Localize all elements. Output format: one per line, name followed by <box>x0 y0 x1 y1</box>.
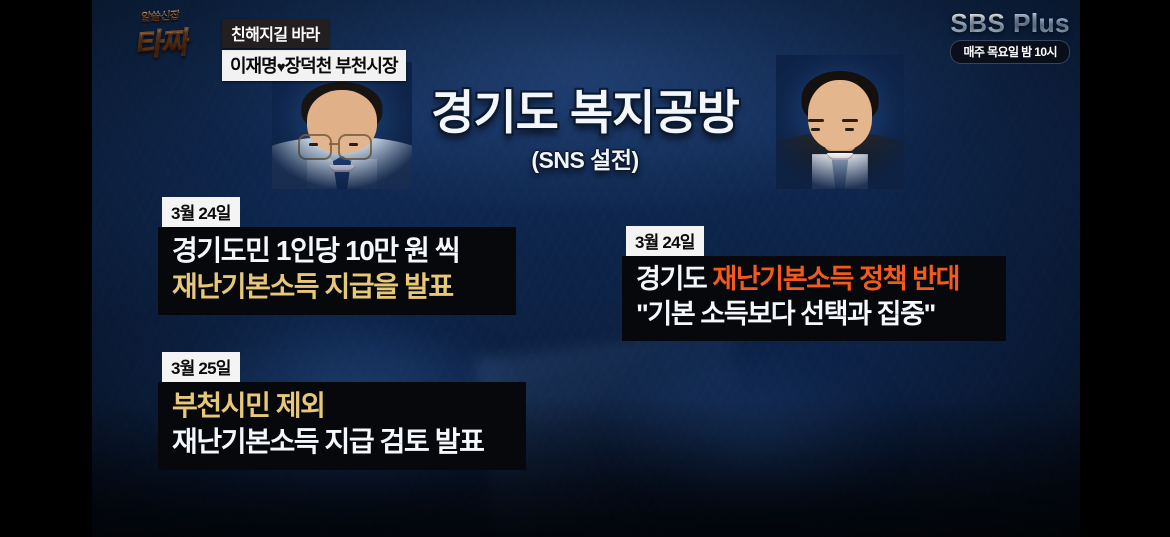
broadcast-screen: 알쓸신잡 타짜 친해지길 바라 이재명♥장덕천 부천시장 SBS Plus 매주… <box>0 0 1170 537</box>
network-wordmark: SBS Plus <box>950 10 1070 36</box>
caption-2-line-1-orange: 재난기본소득 정책 반대 <box>712 264 959 294</box>
page-subtitle: (SNS 설전) <box>0 141 1170 175</box>
header-banner: 친해지길 바라 이재명♥장덕천 부천시장 <box>222 19 406 81</box>
letterbox-right <box>1080 0 1170 537</box>
main-title-block: 경기도 복지공방 (SNS 설전) <box>0 88 1170 175</box>
caption-3-line-2: 재난기본소득 지급 검토 발표 <box>172 424 512 460</box>
caption-1-line-2: 재난기본소득 지급을 발표 <box>172 269 502 305</box>
caption-block-1: 3월 24일 경기도민 1인당 10만 원 씩 재난기본소득 지급을 발표 <box>158 197 516 315</box>
caption-1-line-1: 경기도민 1인당 10만 원 씩 <box>172 233 502 269</box>
caption-3-body: 부천시민 제외 재난기본소득 지급 검토 발표 <box>158 382 526 470</box>
caption-2-line-1-white: 경기도 <box>636 264 712 294</box>
caption-2-line-1: 경기도 재난기본소득 정책 반대 <box>636 262 992 297</box>
network-suffix: Plus <box>1013 8 1070 38</box>
letterbox-left <box>0 0 92 537</box>
schedule-badge: 매주 목요일 밤 10시 <box>950 40 1069 64</box>
heart-icon: ♥ <box>277 59 285 76</box>
caption-block-2: 3월 24일 경기도 재난기본소득 정책 반대 "기본 소득보다 선택과 집중" <box>622 226 1006 341</box>
network-name: SBS <box>950 8 1005 38</box>
caption-2-body: 경기도 재난기본소득 정책 반대 "기본 소득보다 선택과 집중" <box>622 256 1006 341</box>
caption-3-line-1: 부천시민 제외 <box>172 388 512 424</box>
header-banner-name-left: 이재명 <box>230 56 277 76</box>
network-logo: SBS Plus 매주 목요일 밤 10시 <box>950 10 1070 64</box>
caption-1-body: 경기도민 1인당 10만 원 씩 재난기본소득 지급을 발표 <box>158 227 516 315</box>
program-logo: 알쓸신잡 타짜 <box>137 8 229 54</box>
page-title: 경기도 복지공방 <box>0 88 1170 137</box>
header-banner-line2: 이재명♥장덕천 부천시장 <box>222 50 406 81</box>
caption-2-line-2: "기본 소득보다 선택과 집중" <box>636 297 992 332</box>
program-logo-main-text: 타짜 <box>134 18 192 65</box>
header-banner-line1: 친해지길 바라 <box>222 19 329 48</box>
caption-block-3: 3월 25일 부천시민 제외 재난기본소득 지급 검토 발표 <box>158 352 526 470</box>
caption-3-date-badge: 3월 25일 <box>162 352 240 382</box>
header-banner-name-right: 장덕천 부천시장 <box>285 56 398 76</box>
caption-1-date-badge: 3월 24일 <box>162 197 240 227</box>
caption-2-date-badge: 3월 24일 <box>626 226 704 256</box>
